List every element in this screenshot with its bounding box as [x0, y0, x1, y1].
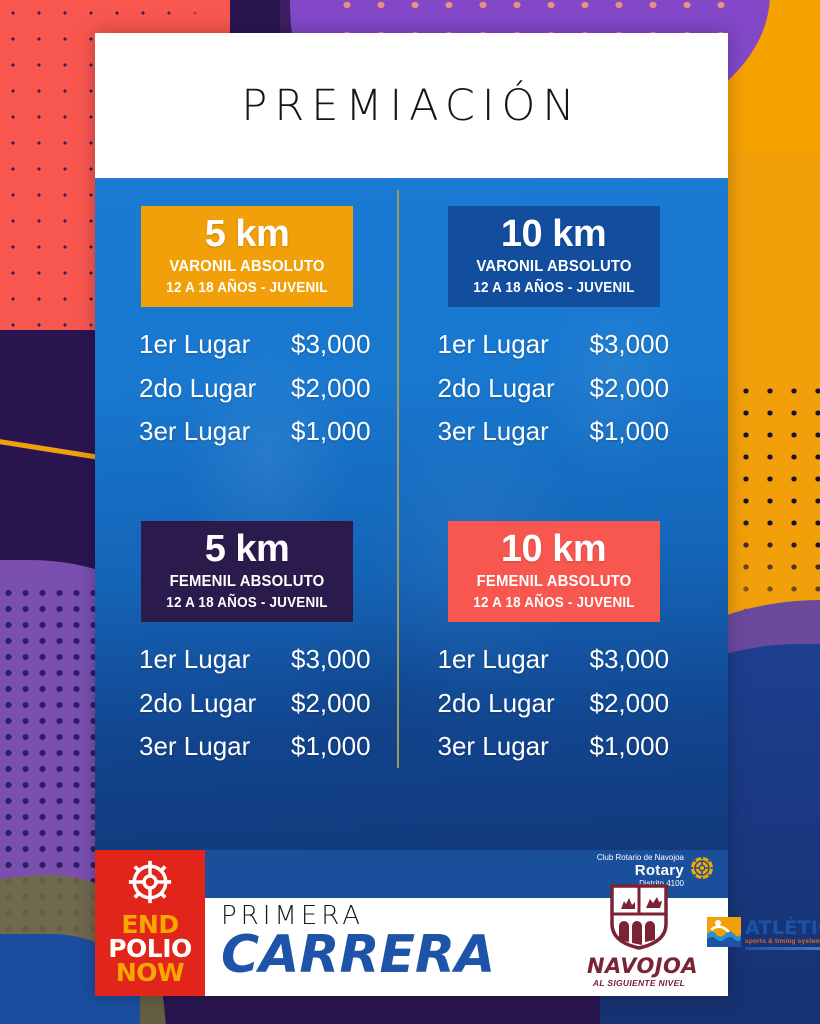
category-cell-5km-varonil: 5 km VARONIL ABSOLUTO 12 A 18 AÑOS - JUV… [113, 206, 412, 521]
atletica-tagline: sports & timing system [745, 938, 820, 945]
rotary-wordmark: Rotary [597, 862, 684, 879]
prize-place: 2do Lugar [438, 682, 590, 726]
prize-amount: $1,000 [590, 725, 670, 769]
prize-row: 2do Lugar $2,000 [438, 367, 695, 411]
prize-place: 1er Lugar [139, 323, 291, 367]
category-age: 12 A 18 AÑOS - JUVENIL [154, 595, 340, 611]
category-distance: 5 km [147, 530, 347, 568]
prize-row: 1er Lugar $3,000 [438, 323, 695, 367]
atletica-wordmark: ATLÉTICA [745, 919, 820, 937]
prize-row: 3er Lugar $1,000 [139, 725, 396, 769]
prize-row: 3er Lugar $1,000 [438, 410, 695, 454]
prize-list: 1er Lugar $3,000 2do Lugar $2,000 3er Lu… [139, 638, 396, 769]
prize-list: 1er Lugar $3,000 2do Lugar $2,000 3er Lu… [139, 323, 396, 454]
prize-amount: $3,000 [590, 638, 670, 682]
category-cell-5km-femenil: 5 km FEMENIL ABSOLUTO 12 A 18 AÑOS - JUV… [113, 521, 412, 836]
category-badge: 10 km VARONIL ABSOLUTO 12 A 18 AÑOS - JU… [448, 206, 660, 307]
prize-place: 1er Lugar [438, 638, 590, 682]
navojoa-logo: NAVOJOA AL SIGUIENTE NIVEL [587, 884, 691, 988]
prize-list: 1er Lugar $3,000 2do Lugar $2,000 3er Lu… [438, 323, 695, 454]
category-cell-10km-varonil: 10 km VARONIL ABSOLUTO 12 A 18 AÑOS - JU… [412, 206, 711, 521]
prize-amount: $3,000 [291, 323, 371, 367]
prize-row: 1er Lugar $3,000 [139, 638, 396, 682]
sponsor-footer: Club Rotario de Navojoa Rotary Distrito … [95, 850, 728, 996]
category-grid: 5 km VARONIL ABSOLUTO 12 A 18 AÑOS - JUV… [95, 178, 728, 850]
category-badge: 5 km FEMENIL ABSOLUTO 12 A 18 AÑOS - JUV… [141, 521, 353, 622]
end-polio-now-logo: END POLIO NOW [95, 850, 205, 996]
end-polio-line-3: NOW [116, 961, 184, 985]
navojoa-shield-icon [608, 937, 670, 954]
prize-place: 1er Lugar [438, 323, 590, 367]
rotary-wheel-icon [690, 856, 714, 885]
prize-amount: $2,000 [291, 682, 371, 726]
atletica-logo: ATLÉTICA sports & timing system [707, 917, 820, 952]
atletica-rule [745, 947, 820, 950]
prize-list: 1er Lugar $3,000 2do Lugar $2,000 3er Lu… [438, 638, 695, 769]
navojoa-tagline: AL SIGUIENTE NIVEL [587, 978, 691, 988]
category-distance: 5 km [147, 215, 347, 253]
prize-amount: $2,000 [590, 682, 670, 726]
prize-amount: $1,000 [291, 410, 371, 454]
prize-amount: $1,000 [291, 725, 371, 769]
category-badge: 5 km VARONIL ABSOLUTO 12 A 18 AÑOS - JUV… [141, 206, 353, 307]
prize-table-panel: 5 km VARONIL ABSOLUTO 12 A 18 AÑOS - JUV… [95, 178, 728, 850]
event-name-line-2: CARRERA [221, 931, 495, 980]
prize-row: 2do Lugar $2,000 [139, 367, 396, 411]
prize-place: 3er Lugar [438, 725, 590, 769]
rotary-club-name: Club Rotario de Navojoa [597, 853, 684, 862]
prize-place: 3er Lugar [438, 410, 590, 454]
category-badge: 10 km FEMENIL ABSOLUTO 12 A 18 AÑOS - JU… [448, 521, 660, 622]
page-title: PREMIACIÓN [241, 81, 581, 131]
category-gender: VARONIL ABSOLUTO [154, 258, 340, 276]
event-wordmark: PRIMERA CARRERA [221, 903, 495, 980]
category-age: 12 A 18 AÑOS - JUVENIL [154, 280, 340, 296]
prize-row: 3er Lugar $1,000 [438, 725, 695, 769]
prize-place: 2do Lugar [139, 367, 291, 411]
prize-row: 2do Lugar $2,000 [438, 682, 695, 726]
prize-place: 3er Lugar [139, 725, 291, 769]
prize-amount: $1,000 [590, 410, 670, 454]
category-distance: 10 km [454, 215, 654, 253]
prize-place: 2do Lugar [438, 367, 590, 411]
category-age: 12 A 18 AÑOS - JUVENIL [461, 595, 647, 611]
prize-place: 3er Lugar [139, 410, 291, 454]
prize-amount: $3,000 [291, 638, 371, 682]
prize-row: 2do Lugar $2,000 [139, 682, 396, 726]
poster-card: PREMIACIÓN 5 km VARONIL ABSOLUTO 12 A 18… [95, 33, 728, 996]
prize-place: 2do Lugar [139, 682, 291, 726]
category-cell-10km-femenil: 10 km FEMENIL ABSOLUTO 12 A 18 AÑOS - JU… [412, 521, 711, 836]
category-gender: FEMENIL ABSOLUTO [461, 573, 647, 591]
prize-amount: $3,000 [590, 323, 670, 367]
prize-amount: $2,000 [291, 367, 371, 411]
category-distance: 10 km [454, 530, 654, 568]
card-header: PREMIACIÓN [95, 33, 728, 178]
category-gender: FEMENIL ABSOLUTO [154, 573, 340, 591]
category-gender: VARONIL ABSOLUTO [461, 258, 647, 276]
category-age: 12 A 18 AÑOS - JUVENIL [461, 280, 647, 296]
prize-row: 1er Lugar $3,000 [438, 638, 695, 682]
navojoa-wordmark: NAVOJOA [587, 956, 691, 977]
prize-place: 1er Lugar [139, 638, 291, 682]
prize-row: 3er Lugar $1,000 [139, 410, 396, 454]
rotary-wheel-icon [124, 856, 176, 913]
atletica-swim-bike-icon [707, 917, 741, 952]
prize-amount: $2,000 [590, 367, 670, 411]
prize-row: 1er Lugar $3,000 [139, 323, 396, 367]
